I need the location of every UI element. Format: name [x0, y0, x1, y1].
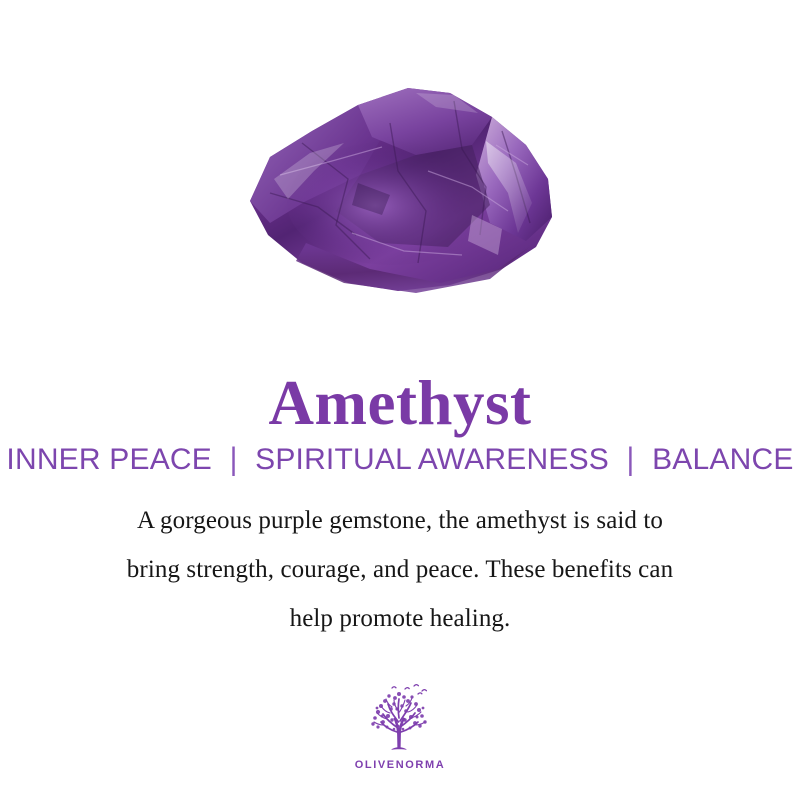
product-card: Amethyst INNER PEACE | SPIRITUAL AWARENE… — [0, 0, 800, 800]
tree-of-life-icon — [361, 682, 439, 756]
product-description: A gorgeous purple gemstone, the amethyst… — [55, 496, 745, 643]
gemstone-image — [0, 70, 800, 310]
product-title: Amethyst — [0, 370, 800, 436]
keyword-separator: | — [221, 442, 247, 477]
keyword-spiritual-awareness: SPIRITUAL AWARENESS — [255, 443, 609, 476]
keyword-balance: BALANCE — [652, 443, 793, 476]
description-line: A gorgeous purple gemstone, the amethyst… — [55, 496, 745, 545]
brand-logo: OLIVENORMA — [0, 682, 800, 771]
amethyst-crystal-icon — [240, 83, 560, 298]
description-line: bring strength, courage, and peace. Thes… — [55, 545, 745, 594]
keyword-inner-peace: INNER PEACE — [6, 443, 212, 476]
description-line: help promote healing. — [55, 594, 745, 643]
keyword-list: INNER PEACE | SPIRITUAL AWARENESS | BALA… — [0, 443, 800, 476]
brand-name: OLIVENORMA — [355, 759, 446, 771]
keyword-separator: | — [618, 442, 644, 477]
